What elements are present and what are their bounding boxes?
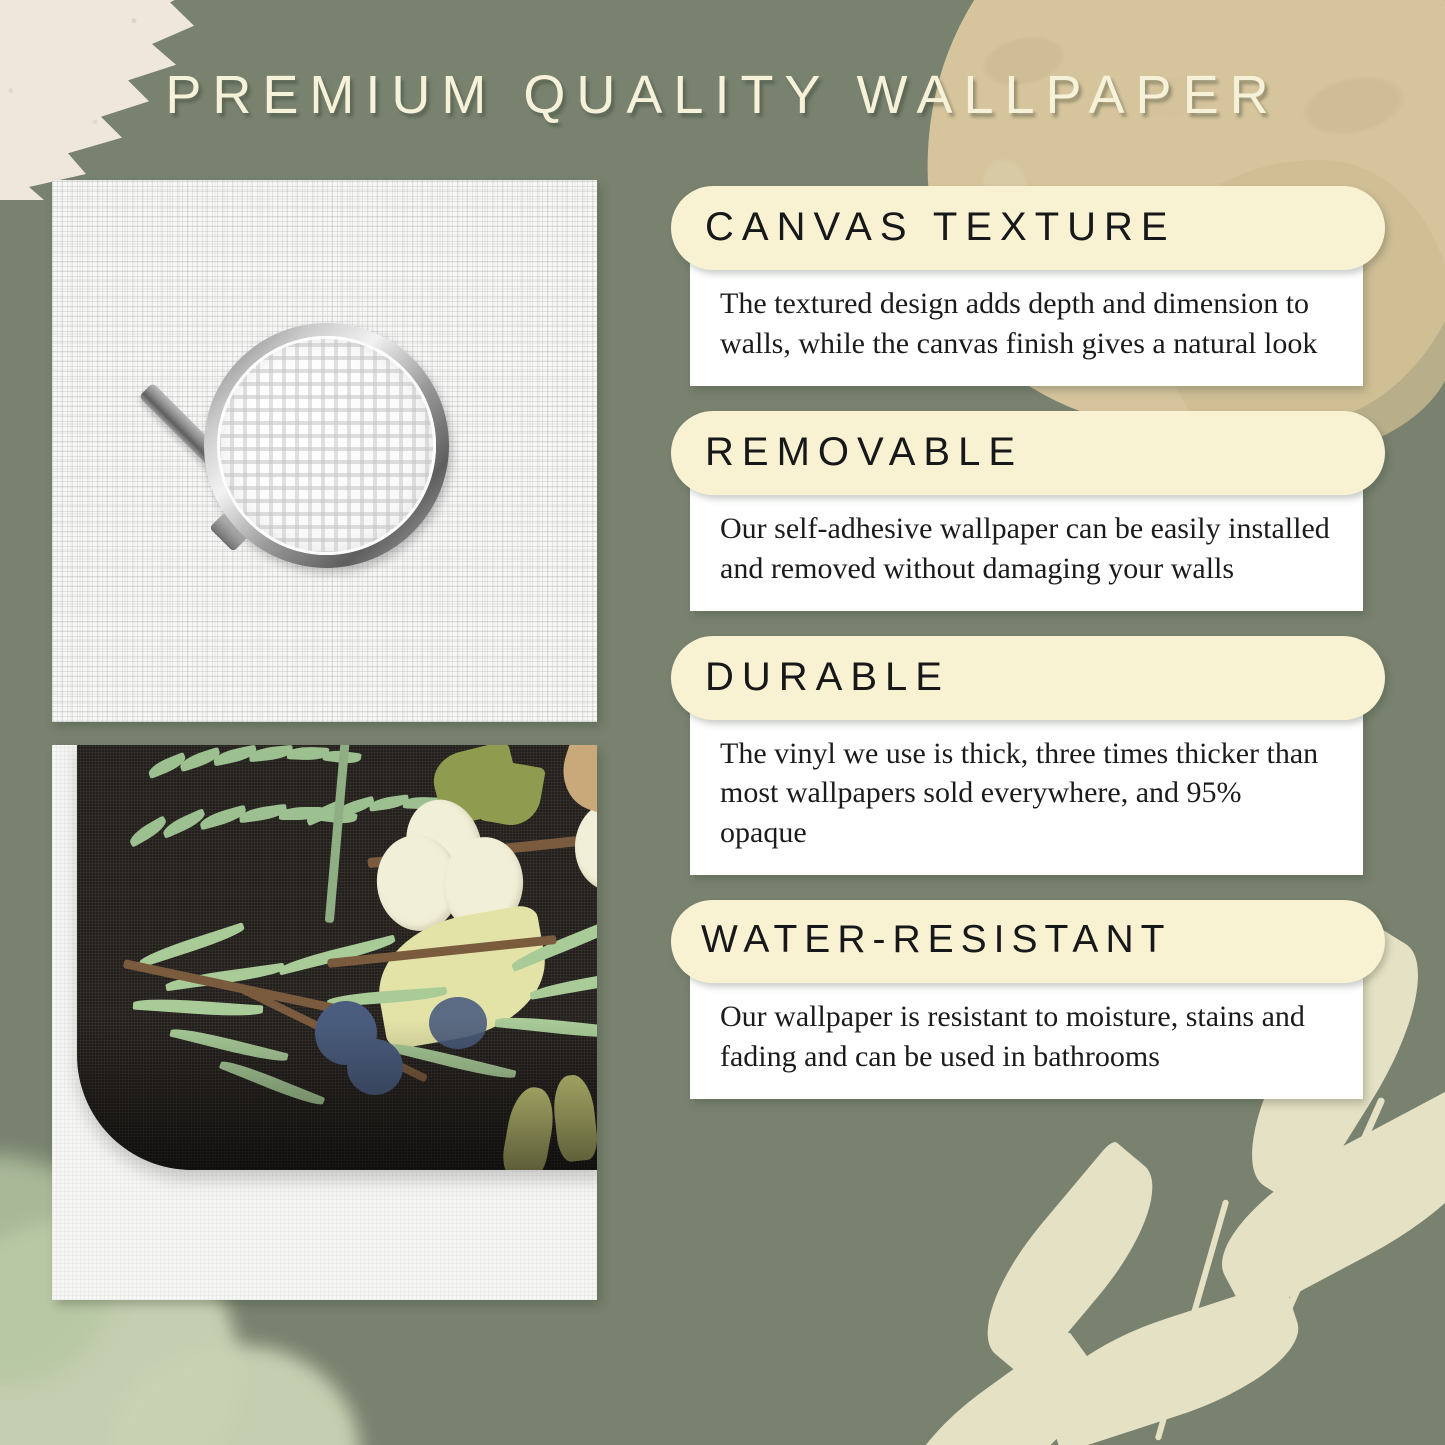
feature-body-panel: The textured design adds depth and dimen… bbox=[690, 258, 1363, 386]
magnifying-glass-icon bbox=[204, 323, 449, 568]
wallpaper-roll bbox=[77, 745, 597, 1170]
feature-heading: CANVAS TEXTURE bbox=[705, 206, 1351, 248]
feature-heading: WATER-RESISTANT bbox=[701, 920, 1361, 961]
feature-heading-pill: CANVAS TEXTURE bbox=[671, 186, 1385, 270]
feature-body-panel: The vinyl we use is thick, three times t… bbox=[690, 708, 1363, 876]
feature-card-water-resistant: WATER-RESISTANT Our wallpaper is resista… bbox=[671, 900, 1385, 1099]
feature-heading-pill: REMOVABLE bbox=[671, 411, 1385, 495]
feature-heading: REMOVABLE bbox=[705, 431, 1351, 473]
canvas-texture-photo bbox=[52, 180, 597, 722]
feature-body-panel: Our self-adhesive wallpaper can be easil… bbox=[690, 483, 1363, 611]
feature-heading-pill: WATER-RESISTANT bbox=[671, 900, 1385, 983]
feature-card-durable: DURABLE The vinyl we use is thick, three… bbox=[671, 636, 1385, 876]
feature-description: The textured design adds depth and dimen… bbox=[720, 284, 1333, 364]
roll-curl-shadow bbox=[77, 1020, 597, 1170]
feature-body-panel: Our wallpaper is resistant to moisture, … bbox=[690, 971, 1363, 1099]
feature-heading-pill: DURABLE bbox=[671, 636, 1385, 720]
feature-description: Our self-adhesive wallpaper can be easil… bbox=[720, 509, 1333, 589]
feature-description: Our wallpaper is resistant to moisture, … bbox=[720, 997, 1333, 1077]
product-image-column bbox=[52, 180, 597, 1300]
page-title: PREMIUM QUALITY WALLPAPER bbox=[0, 64, 1445, 126]
feature-heading: DURABLE bbox=[705, 656, 1351, 698]
feature-description: The vinyl we use is thick, three times t… bbox=[720, 734, 1333, 854]
wallpaper-roll-photo bbox=[52, 745, 597, 1300]
feature-card-removable: REMOVABLE Our self-adhesive wallpaper ca… bbox=[671, 411, 1385, 611]
feature-card-canvas-texture: CANVAS TEXTURE The textured design adds … bbox=[671, 186, 1385, 386]
magnifier-magnified-weave bbox=[217, 336, 436, 555]
feature-card-list: CANVAS TEXTURE The textured design adds … bbox=[671, 186, 1385, 1124]
